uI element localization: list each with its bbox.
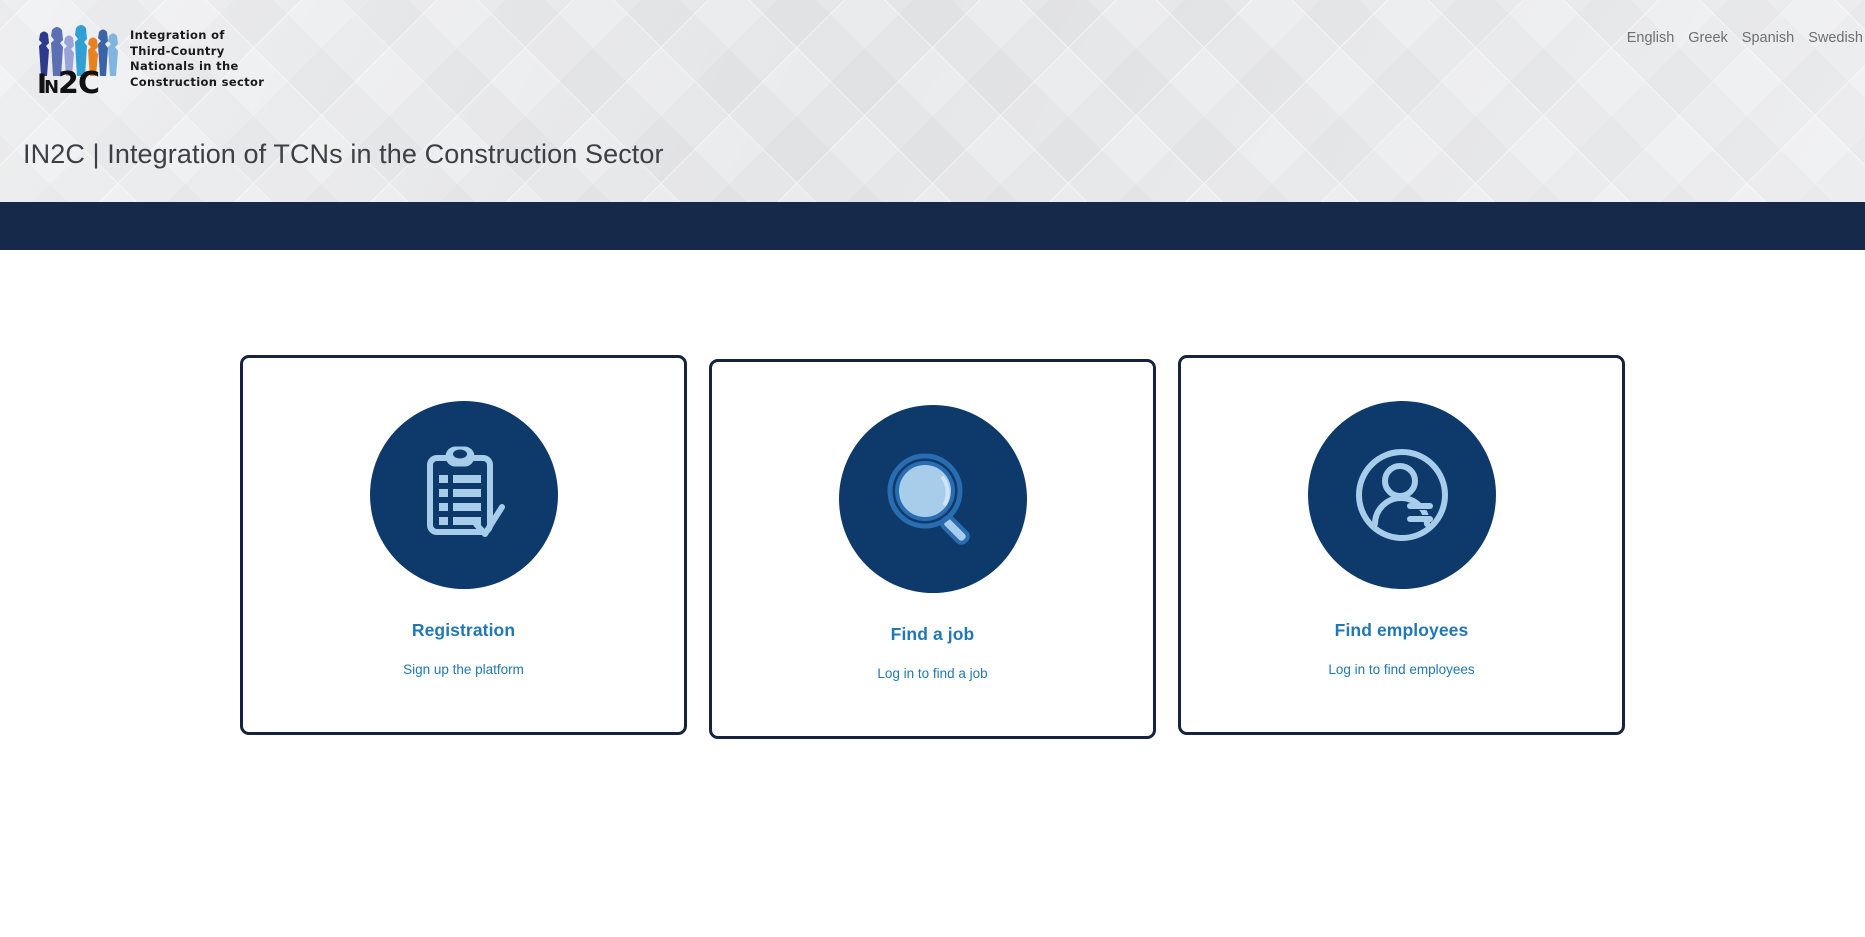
svg-text:N: N	[44, 77, 59, 96]
logo-tagline-line-1: Integration of	[130, 28, 264, 44]
header-background-pattern	[0, 0, 1865, 202]
brand-logo[interactable]: I N 2 C Integration of Third-Country Nat…	[36, 22, 264, 96]
language-link-greek[interactable]: Greek	[1688, 30, 1728, 46]
card-find-employees-title: Find employees	[1335, 620, 1469, 641]
action-card-row: Registration Sign up the platform Find a…	[0, 355, 1865, 739]
logo-tagline-line-2: Third-Country	[130, 44, 264, 60]
header-gloss-overlay	[0, 0, 1865, 202]
language-link-swedish[interactable]: Swedish	[1808, 30, 1865, 46]
card-find-employees-subtitle: Log in to find employees	[1328, 662, 1474, 677]
card-registration[interactable]: Registration Sign up the platform	[240, 355, 687, 735]
page-title: IN2C | Integration of TCNs in the Constr…	[23, 139, 664, 170]
clipboard-checklist-icon	[410, 441, 518, 549]
card-find-a-job-subtitle: Log in to find a job	[877, 666, 987, 681]
registration-icon-circle	[370, 401, 558, 589]
language-link-spanish[interactable]: Spanish	[1742, 30, 1794, 46]
card-find-employees[interactable]: Find employees Log in to find employees	[1178, 355, 1625, 735]
main-navigation-bar[interactable]	[0, 202, 1865, 250]
language-switcher[interactable]: English Greek Spanish Swedish	[1627, 30, 1865, 46]
logo-tagline: Integration of Third-Country Nationals i…	[130, 22, 264, 90]
user-profile-icon	[1348, 441, 1456, 549]
main-content: Registration Sign up the platform Find a…	[0, 250, 1865, 937]
svg-text:2: 2	[58, 66, 79, 96]
magnifying-glass-icon	[879, 445, 987, 553]
logo-tagline-line-4: Construction sector	[130, 75, 264, 91]
card-registration-subtitle: Sign up the platform	[403, 662, 524, 677]
logo-tagline-line-3: Nationals in the	[130, 59, 264, 75]
card-registration-title: Registration	[412, 620, 515, 641]
find-employees-icon-circle	[1308, 401, 1496, 589]
language-link-english[interactable]: English	[1627, 30, 1675, 46]
in2c-people-logo-icon: I N 2 C	[36, 22, 120, 96]
card-find-a-job-title: Find a job	[891, 624, 975, 645]
find-a-job-icon-circle	[839, 405, 1027, 593]
card-find-a-job[interactable]: Find a job Log in to find a job	[709, 359, 1156, 739]
svg-text:C: C	[78, 66, 100, 96]
site-header: I N 2 C Integration of Third-Country Nat…	[0, 0, 1865, 202]
